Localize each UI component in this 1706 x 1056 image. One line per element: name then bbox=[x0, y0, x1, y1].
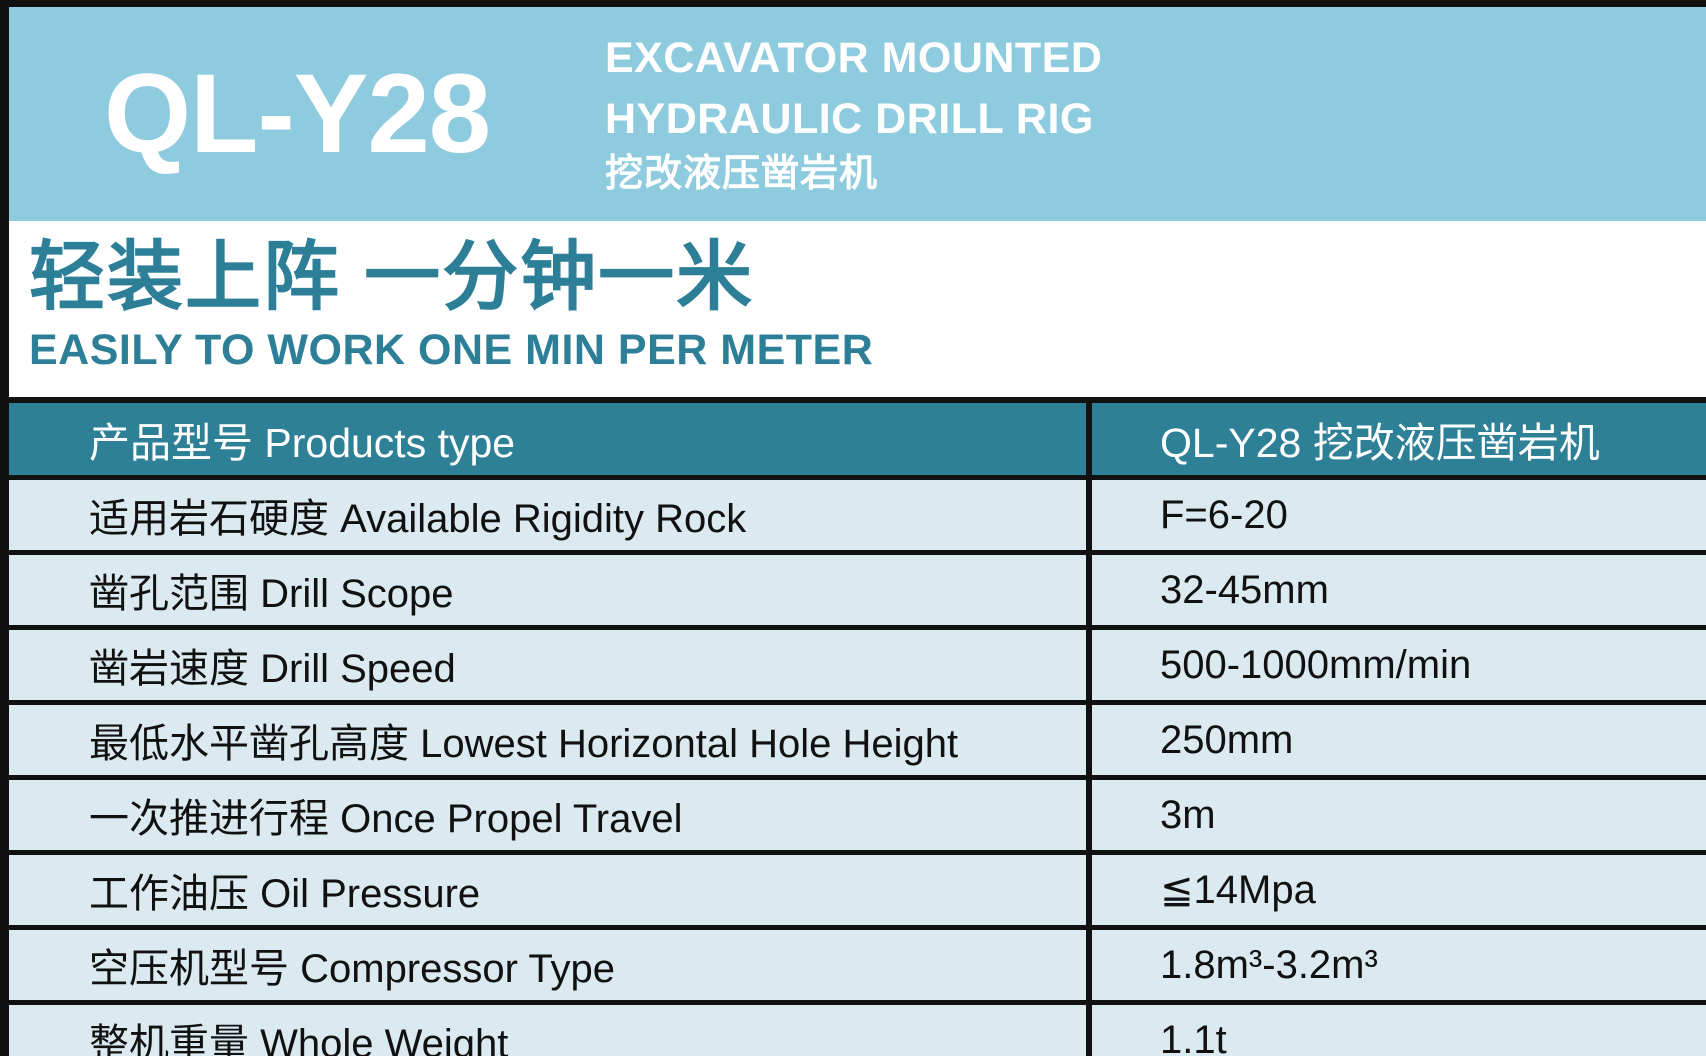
banner-title-group: EXCAVATOR MOUNTED HYDRAULIC DRILL RIG 挖改… bbox=[577, 28, 1102, 199]
spec-label: 最低水平凿孔高度 Lowest Horizontal Hole Height bbox=[9, 703, 1089, 778]
spec-value: 32-45mm bbox=[1089, 553, 1706, 628]
product-spec-sheet: QL-Y28 EXCAVATOR MOUNTED HYDRAULIC DRILL… bbox=[0, 0, 1706, 1056]
spec-label: 空压机型号 Compressor Type bbox=[9, 928, 1089, 1003]
slogan-english: EASILY TO WORK ONE MIN PER METER bbox=[29, 324, 1706, 378]
spec-label: 工作油压 Oil Pressure bbox=[9, 853, 1089, 928]
product-model-code: QL-Y28 bbox=[17, 58, 577, 170]
spec-value: 250mm bbox=[1089, 703, 1706, 778]
spec-value: 1.1t bbox=[1089, 1003, 1706, 1056]
spec-value: F=6-20 bbox=[1089, 478, 1706, 553]
spec-label: 凿岩速度 Drill Speed bbox=[9, 628, 1089, 703]
spec-label: 一次推进行程 Once Propel Travel bbox=[9, 778, 1089, 853]
slogan-block: 轻装上阵 一分钟一米 EASILY TO WORK ONE MIN PER ME… bbox=[9, 221, 1706, 397]
table-row: 整机重量 Whole Weight 1.1t bbox=[9, 1003, 1706, 1056]
spec-value: 500-1000mm/min bbox=[1089, 628, 1706, 703]
table-row: 空压机型号 Compressor Type 1.8m³-3.2m³ bbox=[9, 928, 1706, 1003]
table-row: 适用岩石硬度 Available Rigidity Rock F=6-20 bbox=[9, 478, 1706, 553]
specification-table: 产品型号 Products type QL-Y28 挖改液压凿岩机 适用岩石硬度… bbox=[9, 397, 1706, 1056]
table-row: 最低水平凿孔高度 Lowest Horizontal Hole Height 2… bbox=[9, 703, 1706, 778]
spec-label: 适用岩石硬度 Available Rigidity Rock bbox=[9, 478, 1089, 553]
header-cell-value: QL-Y28 挖改液压凿岩机 bbox=[1089, 400, 1706, 478]
table-row: 凿孔范围 Drill Scope 32-45mm bbox=[9, 553, 1706, 628]
specification-table-body: 适用岩石硬度 Available Rigidity Rock F=6-20 凿孔… bbox=[9, 478, 1706, 1056]
slogan-chinese: 轻装上阵 一分钟一米 bbox=[29, 235, 1706, 320]
table-row: 凿岩速度 Drill Speed 500-1000mm/min bbox=[9, 628, 1706, 703]
table-row: 一次推进行程 Once Propel Travel 3m bbox=[9, 778, 1706, 853]
spec-value: ≦14Mpa bbox=[1089, 853, 1706, 928]
product-banner: QL-Y28 EXCAVATOR MOUNTED HYDRAULIC DRILL… bbox=[9, 7, 1706, 221]
specification-table-head: 产品型号 Products type QL-Y28 挖改液压凿岩机 bbox=[9, 400, 1706, 478]
table-header-row: 产品型号 Products type QL-Y28 挖改液压凿岩机 bbox=[9, 400, 1706, 478]
spec-value: 1.8m³-3.2m³ bbox=[1089, 928, 1706, 1003]
spec-value: 3m bbox=[1089, 778, 1706, 853]
spec-label: 整机重量 Whole Weight bbox=[9, 1003, 1089, 1056]
spec-label: 凿孔范围 Drill Scope bbox=[9, 553, 1089, 628]
header-cell-label: 产品型号 Products type bbox=[9, 400, 1089, 478]
banner-title-chinese: 挖改液压凿岩机 bbox=[605, 150, 1102, 199]
banner-title-line-1: EXCAVATOR MOUNTED bbox=[605, 28, 1102, 89]
table-row: 工作油压 Oil Pressure ≦14Mpa bbox=[9, 853, 1706, 928]
banner-title-line-2: HYDRAULIC DRILL RIG bbox=[605, 89, 1102, 150]
